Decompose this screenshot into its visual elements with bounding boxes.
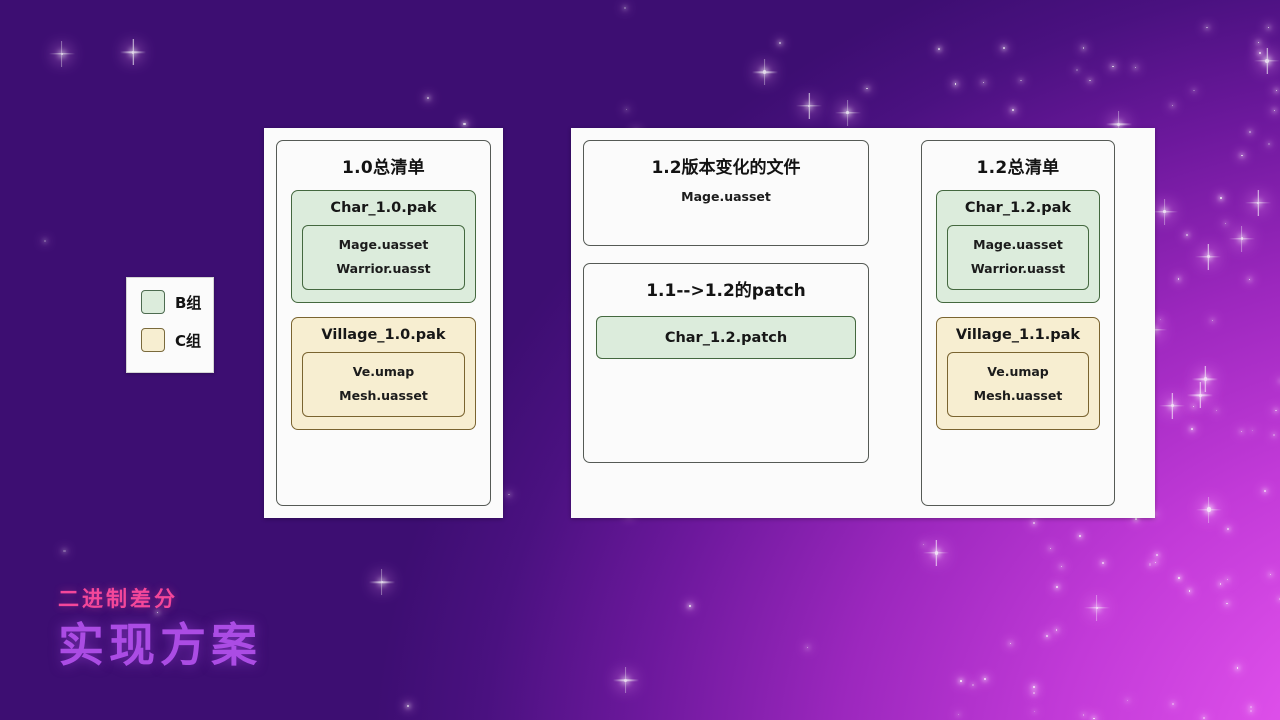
changed-file-item: Mage.uasset (681, 189, 771, 204)
title-changed-files: 1.2版本变化的文件 (651, 153, 800, 178)
pak-village-1-0: Village_1.0.pak Ve.umap Mesh.uasset (291, 317, 476, 430)
title-patch: 1.1-->1.2的patch (646, 276, 806, 301)
asset-item: Mesh.uasset (974, 388, 1063, 403)
patch-chip-char-1-2: Char_1.2.patch (596, 316, 856, 359)
asset-item: Warrior.uasst (971, 261, 1065, 276)
column-1-2-manifest: 1.2总清单 Char_1.2.pak Mage.uasset Warrior.… (921, 140, 1115, 506)
pak-char-1-0: Char_1.0.pak Mage.uasset Warrior.uasst (291, 190, 476, 303)
pak-title-char-1-0: Char_1.0.pak (330, 200, 436, 216)
legend: B组 C组 (126, 277, 214, 373)
box-changed-files: 1.2版本变化的文件 Mage.uasset (583, 140, 869, 246)
legend-swatch-cream-icon (141, 328, 165, 352)
group-title-1-0: 1.0总清单 (342, 153, 425, 178)
page-title: 实现方案 (58, 621, 262, 669)
panel-version-1-0: 1.0总清单 Char_1.0.pak Mage.uasset Warrior.… (264, 128, 503, 518)
legend-item-c: C组 (141, 328, 213, 352)
asset-box-village-1-1: Ve.umap Mesh.uasset (947, 352, 1089, 417)
legend-label-b: B组 (175, 292, 201, 313)
column-patch-pipeline: 1.2版本变化的文件 Mage.uasset 1.1-->1.2的patch C… (583, 140, 869, 506)
box-patch: 1.1-->1.2的patch Char_1.2.patch (583, 263, 869, 463)
slide-kicker: 二进制差分 (58, 583, 262, 613)
asset-box-char-1-2: Mage.uasset Warrior.uasst (947, 225, 1089, 290)
pak-village-1-1: Village_1.1.pak Ve.umap Mesh.uasset (936, 317, 1100, 430)
asset-box-village-1-0: Ve.umap Mesh.uasset (302, 352, 465, 417)
pak-char-1-2: Char_1.2.pak Mage.uasset Warrior.uasst (936, 190, 1100, 303)
group-box-1-0-manifest: 1.0总清单 Char_1.0.pak Mage.uasset Warrior.… (276, 140, 491, 506)
legend-label-c: C组 (175, 330, 201, 351)
pak-title-village-1-0: Village_1.0.pak (321, 327, 445, 343)
legend-swatch-green-icon (141, 290, 165, 314)
asset-item: Ve.umap (987, 364, 1049, 379)
legend-item-b: B组 (141, 290, 213, 314)
asset-box-char-1-0: Mage.uasset Warrior.uasst (302, 225, 465, 290)
asset-item: Ve.umap (353, 364, 415, 379)
asset-item: Warrior.uasst (336, 261, 430, 276)
panel-version-1-2: 1.2版本变化的文件 Mage.uasset 1.1-->1.2的patch C… (571, 128, 1155, 518)
group-title-1-2: 1.2总清单 (977, 153, 1060, 178)
group-box-1-2-manifest: 1.2总清单 Char_1.2.pak Mage.uasset Warrior.… (921, 140, 1115, 506)
pak-title-char-1-2: Char_1.2.pak (965, 200, 1071, 216)
slide-title-block: 二进制差分 实现方案 (58, 583, 262, 669)
asset-item: Mage.uasset (973, 237, 1063, 252)
asset-item: Mesh.uasset (339, 388, 428, 403)
asset-item: Mage.uasset (339, 237, 429, 252)
pak-title-village-1-1: Village_1.1.pak (956, 327, 1080, 343)
